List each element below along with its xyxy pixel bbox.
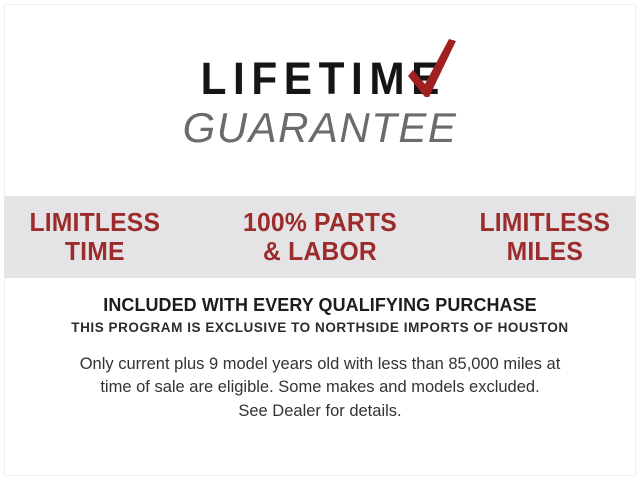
logo-block: LIFETIME GUARANTEE <box>0 56 640 149</box>
benefit-column-limitless-miles: LIMITLESS MILES <box>480 208 611 266</box>
logo-primary-word: LIFETIME <box>194 56 446 101</box>
details-headline: INCLUDED WITH EVERY QUALIFYING PURCHASE <box>10 294 631 316</box>
benefit-line-1: 100% PARTS <box>243 208 397 237</box>
logo-secondary-word: GUARANTEE <box>0 107 640 149</box>
lifetime-guarantee-promo-image: LIFETIME GUARANTEE LIMITLESS TIME 100% P… <box>0 0 640 480</box>
fineprint-line: Only current plus 9 model years old with… <box>40 353 600 376</box>
benefit-line-2: MILES <box>480 237 611 266</box>
fineprint-line: time of sale are eligible. Some makes an… <box>40 376 600 399</box>
benefit-band: LIMITLESS TIME 100% PARTS & LABOR LIMITL… <box>4 196 636 278</box>
details-block: INCLUDED WITH EVERY QUALIFYING PURCHASE … <box>0 294 640 423</box>
benefit-line-2: TIME <box>29 237 160 266</box>
fineprint-paragraph: Only current plus 9 model years old with… <box>40 353 600 423</box>
benefit-line-1: LIMITLESS <box>29 208 160 237</box>
details-subline: THIS PROGRAM IS EXCLUSIVE TO NORTHSIDE I… <box>0 320 640 336</box>
logo-lifetime-wrap: LIFETIME <box>186 56 454 101</box>
benefit-line-1: LIMITLESS <box>480 208 611 237</box>
fineprint-line: See Dealer for details. <box>40 400 600 423</box>
benefit-column-parts-labor: 100% PARTS & LABOR <box>243 208 397 266</box>
benefit-line-2: & LABOR <box>243 237 397 266</box>
benefit-column-limitless-time: LIMITLESS TIME <box>29 208 160 266</box>
